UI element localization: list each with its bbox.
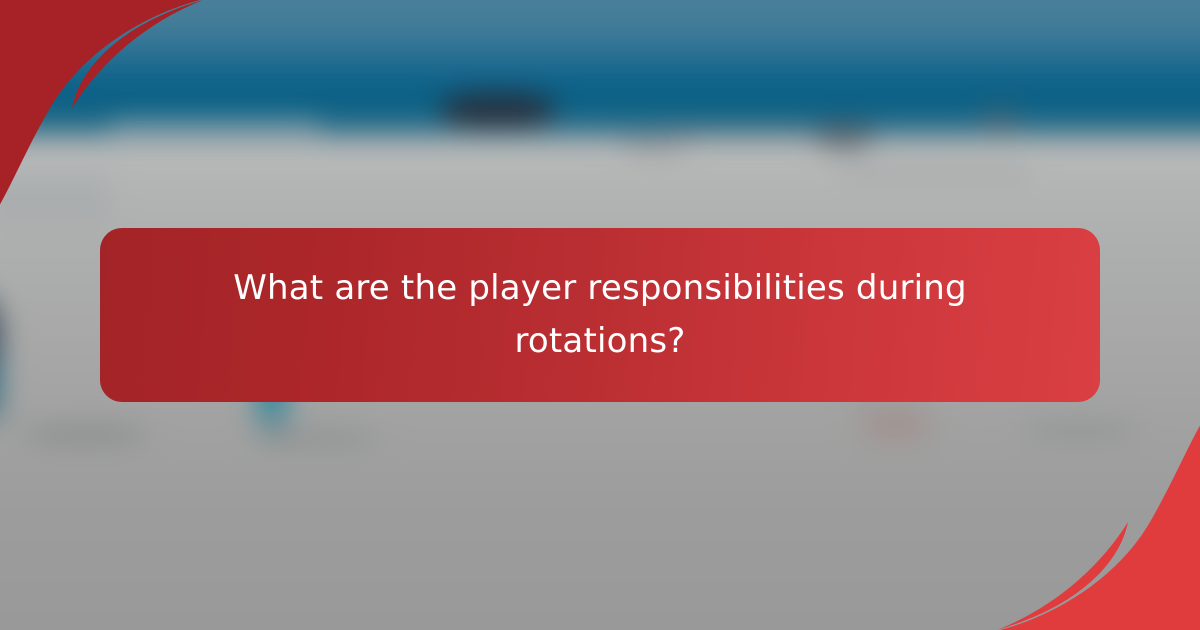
background-object-vehicle: [440, 92, 555, 128]
question-text: What are the player responsibilities dur…: [220, 262, 980, 367]
question-banner: What are the player responsibilities dur…: [100, 228, 1100, 402]
background-object-dark: [815, 120, 873, 150]
background-shadow: [260, 430, 380, 446]
background-object-rail: [660, 128, 810, 138]
question-card: What are the player responsibilities dur…: [0, 0, 1200, 630]
background-object-rail: [110, 120, 320, 132]
background-object-rail: [840, 165, 1030, 179]
background-shadow: [1020, 422, 1140, 438]
background-object-rail: [0, 175, 110, 223]
background-object-dark: [980, 105, 1020, 133]
background-person: [0, 305, 1, 425]
background-shadow: [20, 425, 150, 443]
background-object-warm: [860, 412, 930, 438]
